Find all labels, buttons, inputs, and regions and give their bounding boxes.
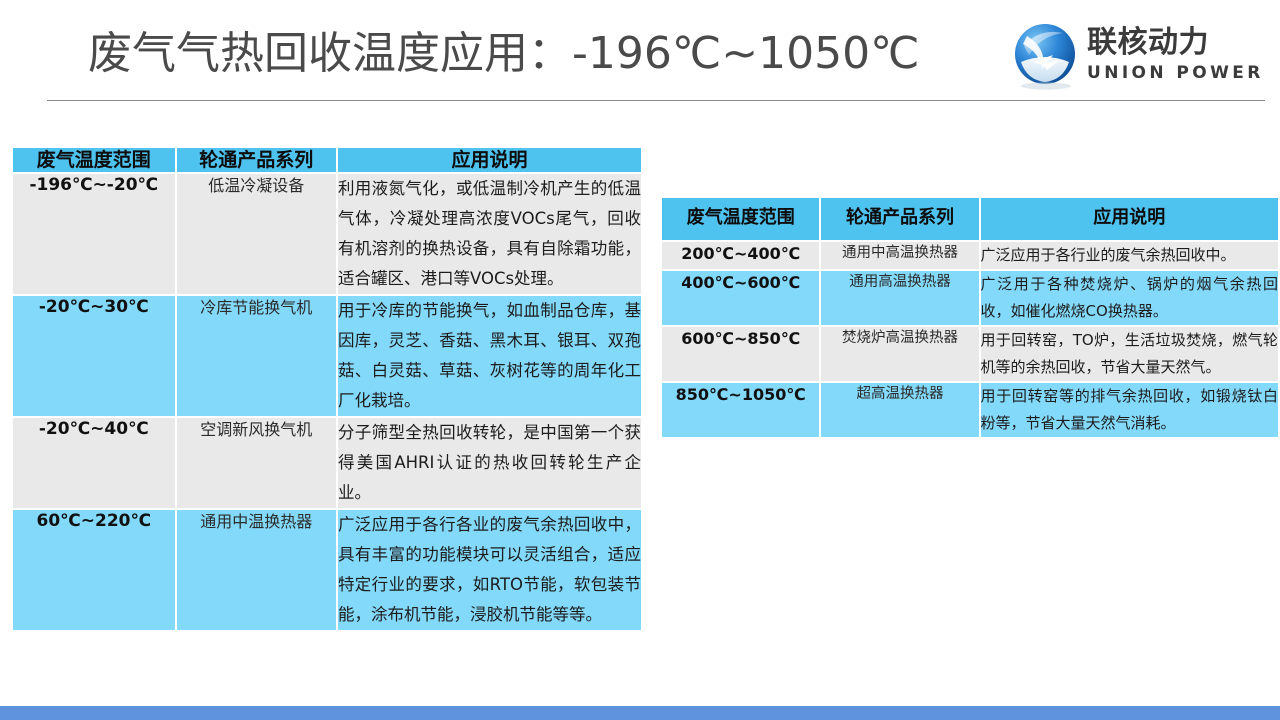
table-row: -20℃~40℃ 空调新风换气机 分子筛型全热回收转轮，是中国第一个获得美国AH… [13, 418, 641, 508]
slide-header: 废气气热回收温度应用：-196℃~1050℃ [0, 0, 1280, 104]
table-row: 60℃~220℃ 通用中温换热器 广泛应用于各行各业的废气余热回收中，具有丰富的… [13, 510, 641, 630]
table-row: -196℃~-20℃ 低温冷凝设备 利用液氮气化，或低温制冷机产生的低温气体，冷… [13, 174, 641, 294]
column-header-temperature-range: 废气温度范围 [13, 148, 175, 172]
column-header-product-series: 轮通产品系列 [821, 198, 978, 240]
cell-application-note: 广泛用于各种焚烧炉、锅炉的烟气余热回收，如催化燃烧CO换热器。 [981, 271, 1278, 325]
cell-temperature-range: 60℃~220℃ [13, 510, 175, 630]
cell-temperature-range: 850℃~1050℃ [662, 383, 819, 437]
cell-product-series: 焚烧炉高温换热器 [821, 327, 978, 381]
page-title: 废气气热回收温度应用：-196℃~1050℃ [88, 26, 920, 82]
cell-temperature-range: -20℃~40℃ [13, 418, 175, 508]
column-header-application-note: 应用说明 [338, 148, 641, 172]
cell-application-note: 利用液氮气化，或低温制冷机产生的低温气体，冷凝处理高浓度VOCs尾气，回收有机溶… [338, 174, 641, 294]
cell-application-note: 分子筛型全热回收转轮，是中国第一个获得美国AHRI认证的热收回转轮生产企业。 [338, 418, 641, 508]
cell-application-note: 用于回转窑等的排气余热回收，如锻烧钛白粉等，节省大量天然气消耗。 [981, 383, 1278, 437]
column-header-application-note: 应用说明 [981, 198, 1278, 240]
slide-canvas: 废气气热回收温度应用：-196℃~1050℃ [0, 0, 1280, 720]
column-header-temperature-range: 废气温度范围 [662, 198, 819, 240]
temperature-application-table-left: 废气温度范围 轮通产品系列 应用说明 -196℃~-20℃ 低温冷凝设备 利用液… [11, 146, 643, 632]
cell-product-series: 通用中高温换热器 [821, 242, 978, 269]
cell-application-note: 用于回转窑，TO炉，生活垃圾焚烧，燃气轮机等的余热回收，节省大量天然气。 [981, 327, 1278, 381]
table-row: 850℃~1050℃ 超高温换热器 用于回转窑等的排气余热回收，如锻烧钛白粉等，… [662, 383, 1278, 437]
table-row: 200℃~400℃ 通用中高温换热器 广泛应用于各行业的废气余热回收中。 [662, 242, 1278, 269]
cell-product-series: 超高温换热器 [821, 383, 978, 437]
column-header-product-series: 轮通产品系列 [177, 148, 336, 172]
table-row: 600℃~850℃ 焚烧炉高温换热器 用于回转窑，TO炉，生活垃圾焚烧，燃气轮机… [662, 327, 1278, 381]
header-divider [47, 100, 1265, 101]
cell-temperature-range: 600℃~850℃ [662, 327, 819, 381]
cell-product-series: 通用高温换热器 [821, 271, 978, 325]
logo-name-cn: 联核动力 [1087, 26, 1269, 60]
union-power-globe-swoosh-icon [1013, 22, 1081, 90]
cell-temperature-range: 200℃~400℃ [662, 242, 819, 269]
table-row: -20℃~30℃ 冷库节能换气机 用于冷库的节能换气，如血制品仓库，基因库，灵芝… [13, 296, 641, 416]
cell-product-series: 通用中温换热器 [177, 510, 336, 630]
company-logo: 联核动力 UNION POWER [1013, 20, 1269, 92]
cell-product-series: 空调新风换气机 [177, 418, 336, 508]
temperature-application-table-right: 废气温度范围 轮通产品系列 应用说明 200℃~400℃ 通用中高温换热器 广泛… [660, 196, 1280, 439]
logo-wordmark: 联核动力 UNION POWER [1087, 26, 1269, 84]
cell-temperature-range: -196℃~-20℃ [13, 174, 175, 294]
cell-application-note: 广泛应用于各行各业的废气余热回收中，具有丰富的功能模块可以灵活组合，适应特定行业… [338, 510, 641, 630]
table-header-row: 废气温度范围 轮通产品系列 应用说明 [662, 198, 1278, 240]
bottom-accent-bar [0, 706, 1280, 720]
cell-product-series: 低温冷凝设备 [177, 174, 336, 294]
cell-temperature-range: 400℃~600℃ [662, 271, 819, 325]
cell-temperature-range: -20℃~30℃ [13, 296, 175, 416]
logo-name-en: UNION POWER [1087, 62, 1269, 84]
cell-product-series: 冷库节能换气机 [177, 296, 336, 416]
table-row: 400℃~600℃ 通用高温换热器 广泛用于各种焚烧炉、锅炉的烟气余热回收，如催… [662, 271, 1278, 325]
cell-application-note: 广泛应用于各行业的废气余热回收中。 [981, 242, 1278, 269]
cell-application-note: 用于冷库的节能换气，如血制品仓库，基因库，灵芝、香菇、黑木耳、银耳、双孢菇、白灵… [338, 296, 641, 416]
table-header-row: 废气温度范围 轮通产品系列 应用说明 [13, 148, 641, 172]
